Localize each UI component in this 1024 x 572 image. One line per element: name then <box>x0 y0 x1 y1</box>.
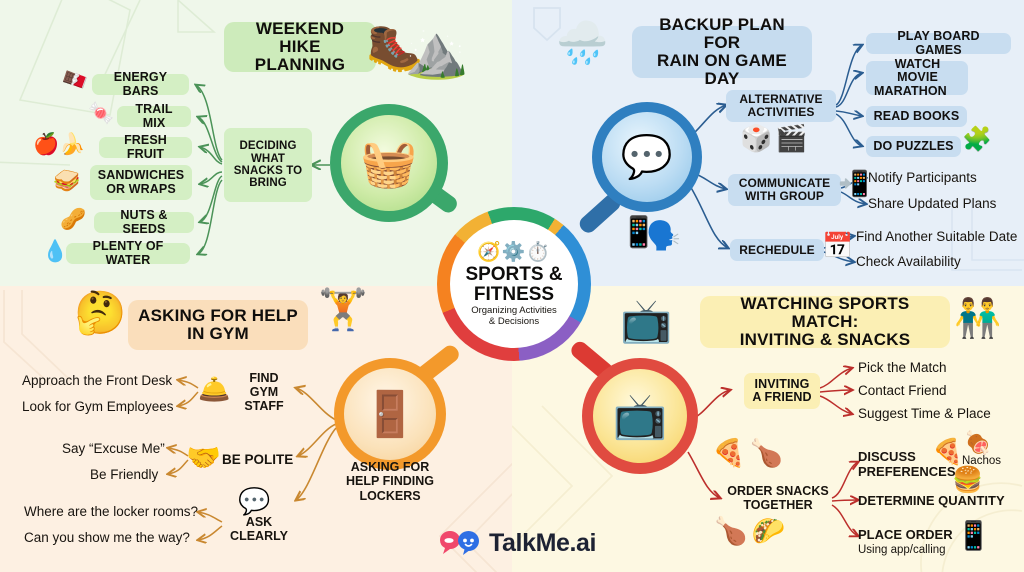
node-play-board-games[interactable]: PLAY BOARD GAMES <box>866 33 1011 54</box>
node-sandwiches-wraps[interactable]: SANDWICHES OR WRAPS <box>90 165 192 200</box>
hub-subtitle-line2: & Decisions <box>471 317 557 328</box>
node-alternative-activities[interactable]: ALTERNATIVE ACTIVITIES <box>726 90 836 122</box>
phone-call-icon: 📱 <box>956 522 991 550</box>
center-hub: 🧭⚙️⏱️ SPORTS & FITNESS Organizing Activi… <box>437 207 591 361</box>
node-approach-front-desk[interactable]: Approach the Front Desk <box>22 373 172 388</box>
node-share-updated-plans[interactable]: Share Updated Plans <box>868 196 996 211</box>
node-look-gym-employees[interactable]: Look for Gym Employees <box>22 399 174 414</box>
speech-bubbles-icon: 💬 <box>238 488 270 514</box>
node-inviting-a-friend[interactable]: INVITING A FRIEND <box>744 373 820 409</box>
banner-watching-sports: WATCHING SPORTS MATCH: INVITING & SNACKS <box>700 296 950 348</box>
hub-subtitle: Organizing Activities & Decisions <box>471 306 557 328</box>
banner-backup-line1: BACKUP PLAN FOR <box>642 16 802 52</box>
node-notify-participants[interactable]: Notify Participants <box>868 170 977 185</box>
node-deciding-line4: BRING <box>249 177 287 189</box>
node-place-order[interactable]: PLACE ORDER <box>858 528 953 543</box>
two-friends-icon: 👬 <box>954 300 1001 338</box>
watching-focus-circle: 📺 <box>582 358 698 474</box>
label-asking-help-lockers: ASKING FOR HELP FINDING LOCKERS <box>340 460 440 503</box>
node-trail-mix[interactable]: TRAIL MIX <box>117 106 191 127</box>
node-be-polite[interactable]: BE POLITE <box>222 452 293 467</box>
backup-focus-circle: 💬 <box>592 102 702 212</box>
node-fresh-fruit[interactable]: FRESH FRUIT <box>99 137 192 158</box>
node-rechedule[interactable]: RECHEDULE <box>730 239 824 261</box>
node-deciding-snacks[interactable]: DECIDING WHAT SNACKS TO BRING <box>224 128 312 202</box>
water-bottle-icon: 💧 <box>42 241 68 262</box>
node-pick-the-match[interactable]: Pick the Match <box>858 360 947 375</box>
nachos-icon: 🍖 <box>964 432 991 454</box>
lockers-icon: 🚪 <box>363 388 418 440</box>
node-where-locker-rooms[interactable]: Where are the locker rooms? <box>24 504 198 519</box>
hub-title-line2: FITNESS <box>465 285 562 304</box>
node-do-puzzles[interactable]: DO PUZZLES <box>866 136 961 157</box>
banner-backup-line2: RAIN ON GAME DAY <box>642 52 802 88</box>
tv-remote-icon: 📺 <box>613 390 668 442</box>
gym-person-icon: 🏋️ <box>318 290 368 330</box>
burger-icon: 🍔 <box>952 468 983 493</box>
banner-watching-line1: WATCHING SPORTS MATCH: <box>710 295 940 331</box>
hub-face: 🧭⚙️⏱️ SPORTS & FITNESS Organizing Activi… <box>450 220 578 348</box>
node-deciding-line2: WHAT <box>251 153 285 165</box>
group-chat-icon: 💬 <box>621 133 673 182</box>
banner-backup-plan: BACKUP PLAN FOR RAIN ON GAME DAY <box>632 26 812 78</box>
node-show-me-the-way[interactable]: Can you show me the way? <box>24 530 190 545</box>
node-be-friendly[interactable]: Be Friendly <box>90 467 158 482</box>
logo-text: TalkMe.ai <box>489 529 596 558</box>
confused-person-icon: 🤔 <box>74 292 126 334</box>
gym-focus-circle: 🚪 <box>334 358 446 470</box>
hub-title-line1: SPORTS & <box>465 265 562 284</box>
hub-icons: 🧭⚙️⏱️ <box>477 240 551 264</box>
puzzle-icon: 🧩 <box>962 128 992 152</box>
node-contact-friend[interactable]: Contact Friend <box>858 383 947 398</box>
node-nuts-seeds[interactable]: NUTS & SEEDS <box>94 212 194 233</box>
hike-focus-circle: 🧺 <box>330 104 448 222</box>
node-check-availability[interactable]: Check Availability <box>856 254 961 269</box>
banner-gym-line2: IN GYM <box>187 325 249 343</box>
picnic-basket-icon: 🧺 <box>360 136 417 191</box>
nuts-seeds-icon: 🥜 <box>60 209 86 230</box>
talkme-bubbles-icon <box>437 530 483 556</box>
node-suggest-time-place[interactable]: Suggest Time & Place <box>858 406 991 421</box>
banner-gym-line1: ASKING FOR HELP <box>138 307 298 325</box>
node-order-snacks-together[interactable]: ORDER SNACKS TOGETHER <box>724 484 832 512</box>
banner-weekend-hike-line1: WEEKEND HIKE <box>234 20 366 56</box>
rain-cloud-icon: 🌧️ <box>556 22 608 64</box>
node-deciding-line3: SNACKS TO <box>234 165 302 177</box>
pizza-chicken-icons: 🍕🍗 <box>712 440 787 467</box>
decorative-triangle-tl <box>168 0 228 42</box>
drumstick-taco-icons: 🍗🌮 <box>714 518 789 545</box>
node-read-books[interactable]: READ BOOKS <box>866 106 967 127</box>
talkme-logo[interactable]: TalkMe.ai <box>437 528 596 558</box>
node-plenty-water[interactable]: PLENTY OF WATER <box>66 243 190 264</box>
node-watch-movie-marathon[interactable]: WATCH MOVIE MARATHON <box>866 61 968 95</box>
node-ask-clearly[interactable]: ASK CLEARLY <box>228 516 290 544</box>
fresh-fruit-icon: 🍎🍌 <box>33 134 85 155</box>
node-energy-bars[interactable]: ENERGY BARS <box>92 74 189 95</box>
node-find-gym-staff[interactable]: FIND GYM STAFF <box>236 372 292 413</box>
trail-mix-icon: 🍬 <box>88 103 114 124</box>
front-desk-icon: 🛎️ <box>198 376 230 402</box>
mobile-message-icon: 📲 <box>838 172 869 197</box>
banner-weekend-hike: WEEKEND HIKE PLANNING <box>224 22 376 72</box>
hub-title: SPORTS & FITNESS <box>465 265 562 304</box>
tv-sports-icon: 📺 <box>620 300 672 342</box>
banner-weekend-hike-line2: PLANNING <box>255 56 345 74</box>
node-say-excuse-me[interactable]: Say “Excuse Me” <box>62 441 165 456</box>
sandwich-icon: 🥪 <box>53 170 80 192</box>
node-determine-quantity[interactable]: DETERMINE QUANTITY <box>858 494 1005 509</box>
infographic-canvas: WEEKEND HIKE PLANNING 🥾 ⛰️ 🧺 DECIDING WH… <box>0 0 1024 572</box>
banner-watching-line2: INVITING & SNACKS <box>740 331 911 349</box>
node-find-another-date[interactable]: Find Another Suitable Date <box>856 229 1017 244</box>
people-chat-icon: 🗣️ <box>646 222 681 250</box>
calendar-icon: 📅 <box>822 234 853 259</box>
banner-asking-help-gym: ASKING FOR HELP IN GYM <box>128 300 308 350</box>
board-game-movie-icons: 🎲🎬 <box>740 125 811 151</box>
handshake-smile-icon: 🤝 <box>186 444 221 472</box>
label-place-order-sub: Using app/calling <box>858 544 946 557</box>
pizza-slice-icon: 🍕 <box>932 440 963 465</box>
mountain-icon: ⛰️ <box>404 26 469 78</box>
node-communicate-with-group[interactable]: COMMUNICATE WITH GROUP <box>728 174 841 206</box>
node-deciding-line1: DECIDING <box>239 140 296 152</box>
